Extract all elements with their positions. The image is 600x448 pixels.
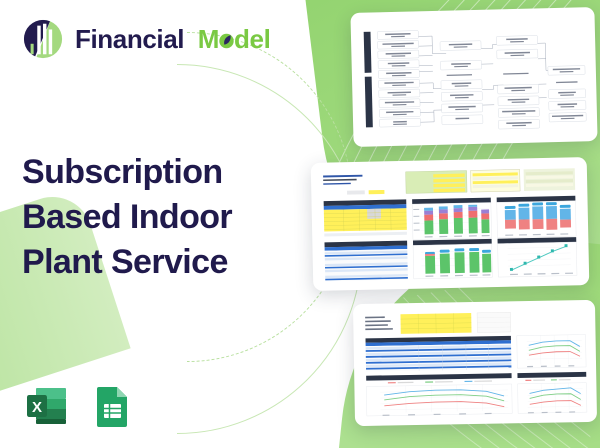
- financial-statements-preview[interactable]: [353, 300, 597, 426]
- file-format-icons: X: [22, 382, 136, 430]
- financial-statements-image: [358, 305, 592, 421]
- page-title-line-2: Based Indoor: [22, 195, 322, 240]
- brand-name-part1: Financial: [75, 24, 184, 54]
- page-title-line-3: Plant Service: [22, 240, 322, 285]
- dupont-flowchart-image: [356, 12, 593, 142]
- google-sheets-icon[interactable]: [88, 382, 136, 430]
- svg-text:X: X: [32, 399, 42, 416]
- brand-logo: Financial Mdel: [22, 18, 270, 60]
- financial-model-circle-chart-logo: [22, 18, 64, 60]
- financial-dashboard-image: [316, 162, 584, 286]
- page-title: Subscription Based Indoor Plant Service: [22, 150, 322, 285]
- microsoft-excel-icon[interactable]: X: [22, 382, 70, 430]
- brand-name-part2-prefix: M: [198, 24, 219, 54]
- brand-name: Financial Mdel: [75, 24, 270, 55]
- leaf-icon: [218, 30, 235, 50]
- brand-name-part2-suffix: del: [234, 24, 270, 54]
- financial-dashboard-preview[interactable]: [311, 157, 590, 291]
- dupont-analysis-flowchart-preview[interactable]: [350, 7, 597, 147]
- page-title-line-1: Subscription: [22, 150, 322, 195]
